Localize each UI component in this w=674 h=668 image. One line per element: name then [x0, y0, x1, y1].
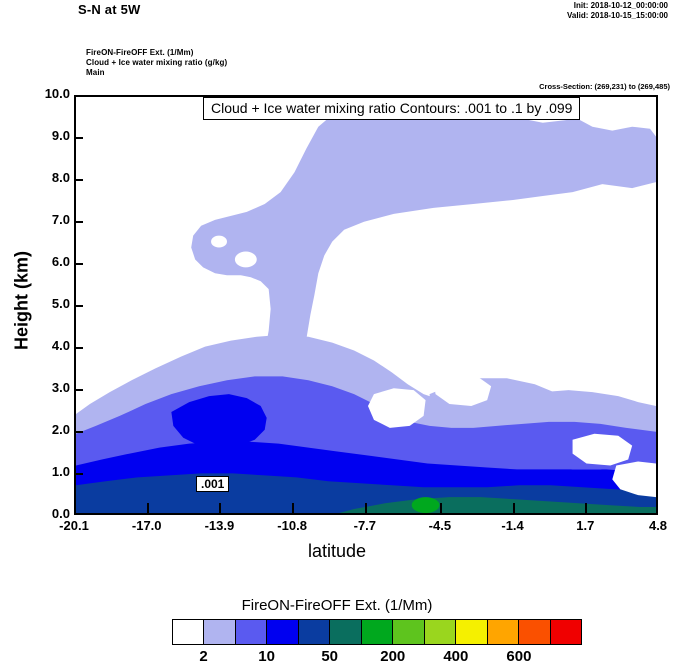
colorbar-cell	[236, 620, 267, 644]
colorbar-tick-label: 2	[199, 648, 207, 665]
colorbar-cell	[362, 620, 393, 644]
variable-line-domain: Main	[86, 68, 227, 78]
valid-time: Valid: 2018-10-15_15:00:00	[567, 11, 668, 21]
x-tick-mark	[440, 503, 442, 515]
x-tick-mark	[219, 503, 221, 515]
y-tick-label: 9.0	[26, 128, 70, 143]
y-tick-label: 4.0	[26, 338, 70, 353]
y-tick-label: 10.0	[26, 86, 70, 101]
colorbar-cell	[173, 620, 204, 644]
x-tick-label: -20.1	[59, 518, 89, 533]
x-tick-mark	[365, 503, 367, 515]
x-tick-label: -4.5	[429, 518, 451, 533]
colorbar-cell	[393, 620, 424, 644]
colorbar-cell	[488, 620, 519, 644]
y-tick-label: 3.0	[26, 380, 70, 395]
colorbar-tick-label: 50	[321, 648, 338, 665]
colorbar-cell	[299, 620, 330, 644]
init-valid-block: Init: 2018-10-12_00:00:00 Valid: 2018-10…	[567, 1, 668, 21]
colorbar-cell	[519, 620, 550, 644]
y-tick-label: 5.0	[26, 296, 70, 311]
colorbar-title: FireON-FireOFF Ext. (1/Mm)	[0, 597, 674, 614]
y-axis-title: Height (km)	[12, 246, 33, 356]
x-tick-label: -1.4	[501, 518, 523, 533]
colorbar-cell	[204, 620, 235, 644]
colorbar-cell	[425, 620, 456, 644]
x-axis-title: latitude	[0, 541, 674, 562]
colorbar-tick-label: 600	[506, 648, 531, 665]
y-tick-label: 7.0	[26, 212, 70, 227]
variable-description-block: FireON-FireOFF Ext. (1/Mm) Cloud + Ice w…	[86, 48, 227, 78]
x-tick-mark	[147, 503, 149, 515]
x-tick-label: -13.9	[205, 518, 235, 533]
x-tick-label: 1.7	[576, 518, 594, 533]
x-tick-label: 4.8	[649, 518, 667, 533]
y-tick-label: 8.0	[26, 170, 70, 185]
x-tick-mark	[292, 503, 294, 515]
colorbar-tick-label: 200	[380, 648, 405, 665]
x-tick-label: -7.7	[354, 518, 376, 533]
x-tick-label: -10.8	[277, 518, 307, 533]
variable-line-mixing-ratio: Cloud + Ice water mixing ratio (g/kg)	[86, 58, 227, 68]
x-axis-tick-marks	[74, 95, 658, 515]
colorbar-cell	[330, 620, 361, 644]
colorbar-cell	[267, 620, 298, 644]
colorbar-tick-labels: 21050200400600	[172, 648, 582, 668]
variable-line-extinction: FireON-FireOFF Ext. (1/Mm)	[86, 48, 227, 58]
x-tick-mark	[513, 503, 515, 515]
y-tick-label: 2.0	[26, 422, 70, 437]
colorbar-tick-label: 10	[258, 648, 275, 665]
page-title: S-N at 5W	[78, 2, 140, 17]
x-tick-mark	[585, 503, 587, 515]
x-tick-label: -17.0	[132, 518, 162, 533]
colorbar-cell	[551, 620, 581, 644]
colorbar-tick-label: 400	[443, 648, 468, 665]
colorbar-cell	[456, 620, 487, 644]
colorbar	[172, 619, 582, 645]
cross-section-label: Cross-Section: (269,231) to (269,485)	[539, 82, 670, 91]
init-time: Init: 2018-10-12_00:00:00	[567, 1, 668, 11]
y-tick-label: 1.0	[26, 464, 70, 479]
x-axis-tick-labels: -20.1-17.0-13.9-10.8-7.7-4.5-1.41.74.8	[0, 518, 674, 538]
y-tick-label: 6.0	[26, 254, 70, 269]
